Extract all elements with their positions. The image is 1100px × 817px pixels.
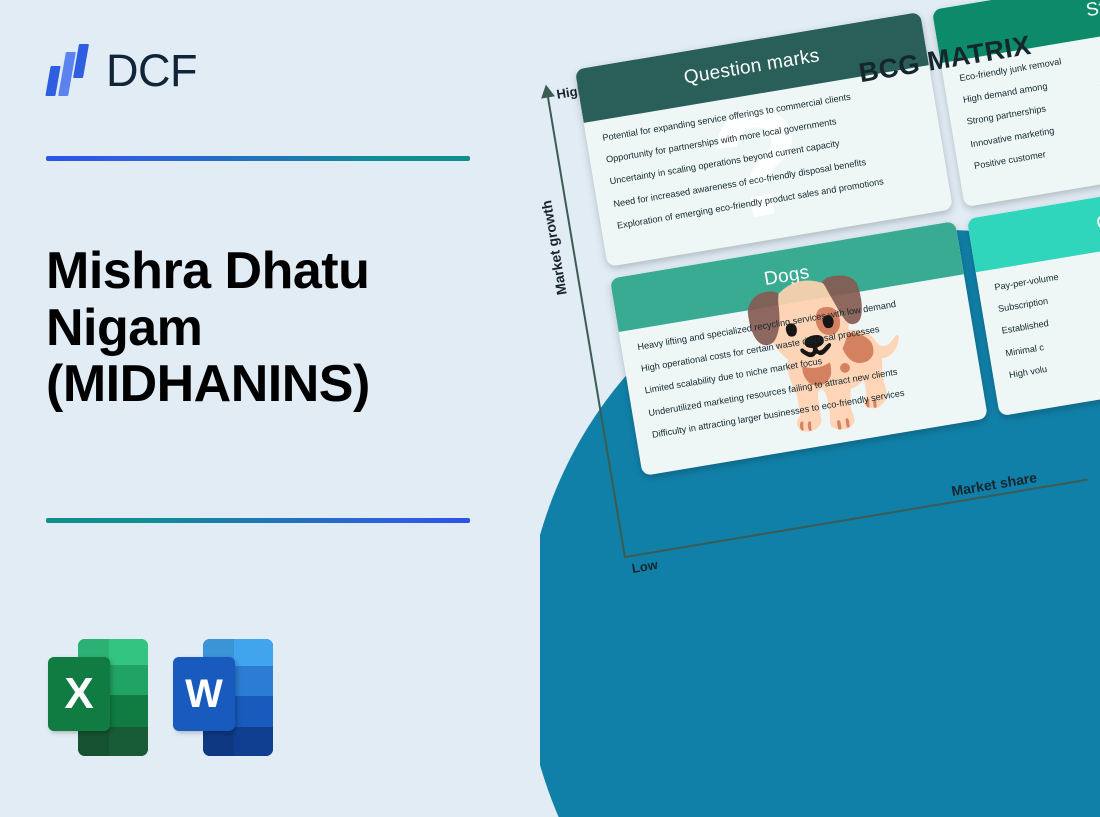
x-axis-line	[624, 479, 1088, 559]
word-letter: W	[173, 657, 235, 731]
dcf-bars-logo-icon	[46, 44, 92, 96]
quadrant-card-dogs[interactable]: Dogs 🐕 Heavy lifting and specialized rec…	[610, 221, 988, 476]
page-title: Mishra Dhatu Nigam (MIDHANINS)	[46, 243, 486, 413]
quadrant-grid: Question marks ? Potential for expanding…	[575, 0, 1100, 476]
brand-logo[interactable]: DCF	[46, 44, 197, 96]
matrix-rotated-group: High Low Market growth Market share Ques…	[540, 0, 1100, 817]
axis-label-low: Low	[631, 557, 659, 576]
bcg-matrix-graphic: BCG MATRIX High Low Market growth Market…	[540, 0, 1100, 817]
left-panel: DCF Mishra Dhatu Nigam (MIDHANINS) X W	[0, 0, 540, 817]
excel-icon[interactable]: X	[48, 632, 151, 756]
y-axis-arrow-icon	[540, 83, 555, 98]
axis-label-market-growth: Market growth	[540, 199, 570, 296]
divider-bottom	[46, 518, 470, 523]
quadrant-card-question-marks[interactable]: Question marks ? Potential for expanding…	[575, 12, 953, 267]
excel-letter: X	[48, 657, 110, 731]
brand-name: DCF	[106, 48, 197, 93]
word-icon[interactable]: W	[173, 632, 276, 756]
divider-top	[46, 156, 470, 161]
file-format-icons: X W	[48, 632, 276, 756]
